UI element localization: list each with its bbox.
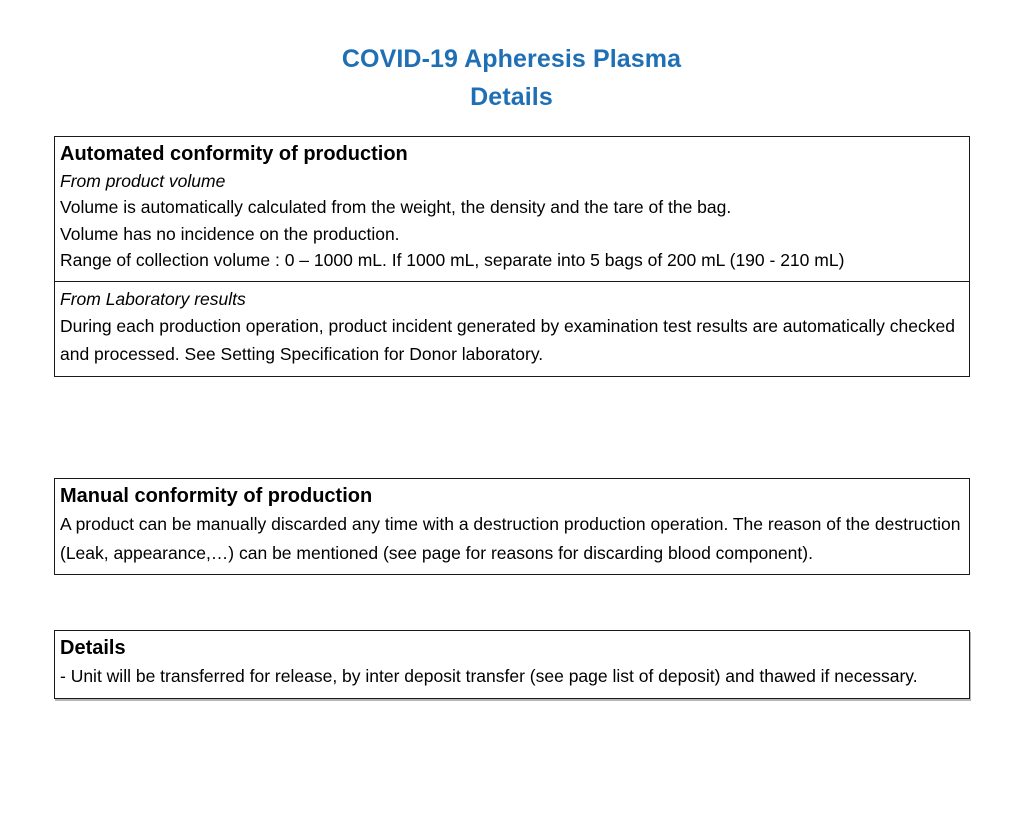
section-manual-conformity: Manual conformity of production A produc… bbox=[55, 479, 969, 574]
section-heading-details: Details bbox=[60, 635, 963, 661]
body-line-manual-discard: A product can be manually discarded any … bbox=[60, 510, 963, 567]
section-heading-manual-conformity: Manual conformity of production bbox=[60, 483, 963, 509]
panel-manual-conformity: Manual conformity of production A produc… bbox=[54, 478, 970, 575]
body-line-laboratory-results: During each production operation, produc… bbox=[60, 312, 963, 369]
page-title-line-1: COVID-19 Apheresis Plasma bbox=[0, 40, 1023, 78]
section-details: Details - Unit will be transferred for r… bbox=[55, 631, 969, 698]
subheading-from-laboratory-results: From Laboratory results bbox=[60, 286, 963, 312]
panel-automated-conformity: Automated conformity of production From … bbox=[54, 136, 970, 377]
body-line-collection-volume-range: Range of collection volume : 0 – 1000 mL… bbox=[60, 247, 963, 274]
body-line-volume-incidence: Volume has no incidence on the productio… bbox=[60, 221, 963, 248]
body-line-volume-calculation: Volume is automatically calculated from … bbox=[60, 194, 963, 221]
section-from-product-volume: Automated conformity of production From … bbox=[55, 137, 969, 281]
section-from-laboratory-results: From Laboratory results During each prod… bbox=[55, 281, 969, 376]
section-heading-automated-conformity: Automated conformity of production bbox=[60, 141, 963, 167]
panel-details: Details - Unit will be transferred for r… bbox=[54, 630, 970, 699]
page-title-line-2: Details bbox=[0, 78, 1023, 116]
subheading-from-product-volume: From product volume bbox=[60, 168, 963, 194]
page-title: COVID-19 Apheresis Plasma Details bbox=[0, 40, 1023, 116]
body-line-unit-transfer: - Unit will be transferred for release, … bbox=[60, 662, 963, 691]
